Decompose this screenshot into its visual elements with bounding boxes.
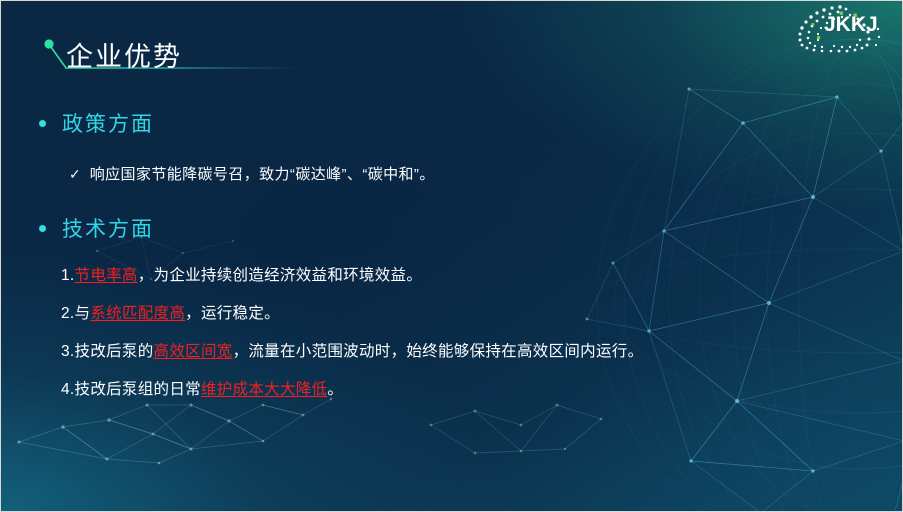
body-text: 与 bbox=[75, 305, 91, 322]
body-text: 响应国家节能降碳号召，致力“碳达峰”、“碳中和”。 bbox=[90, 166, 435, 183]
list-item-number: 4. bbox=[61, 381, 75, 398]
body-text: ，为企业持续创造经济效益和环境效益。 bbox=[138, 267, 422, 284]
checkmark-icon: ✓ bbox=[69, 166, 81, 183]
body-text: 。 bbox=[327, 381, 343, 398]
list-item: ✓响应国家节能降碳号召，致力“碳达峰”、“碳中和”。 bbox=[69, 163, 435, 184]
list-item-number: 1. bbox=[61, 267, 75, 284]
section-heading-policy: 政策方面 bbox=[39, 108, 154, 138]
body-text: 技改后泵的 bbox=[75, 343, 154, 360]
section-heading-technology: 技术方面 bbox=[39, 213, 154, 243]
highlight-text: 高效区间宽 bbox=[154, 343, 233, 360]
list-item-number: 2. bbox=[61, 305, 75, 322]
section-heading-label: 政策方面 bbox=[62, 108, 154, 138]
body-text: ，流量在小范围波动时，始终能够保持在高效区间内运行。 bbox=[233, 343, 644, 360]
list-item-number: 3. bbox=[61, 343, 75, 360]
list-item-text: 响应国家节能降碳号召，致力“碳达峰”、“碳中和”。 bbox=[90, 163, 435, 184]
section-heading-label: 技术方面 bbox=[62, 213, 154, 243]
list-item: 1.节电率高，为企业持续创造经济效益和环境效益。 bbox=[61, 263, 422, 285]
bullet-dot-icon bbox=[39, 120, 46, 127]
body-text: ，运行稳定。 bbox=[185, 305, 280, 322]
highlight-text: 维护成本大大降低 bbox=[201, 381, 327, 398]
highlight-text: 系统匹配度高 bbox=[90, 305, 185, 322]
list-item: 2.与系统匹配度高，运行稳定。 bbox=[61, 301, 280, 323]
list-item: 4.技改后泵组的日常维护成本大大降低。 bbox=[61, 377, 343, 399]
highlight-text: 节电率高 bbox=[75, 267, 138, 284]
slide-content: 政策方面✓响应国家节能降碳号召，致力“碳达峰”、“碳中和”。技术方面1.节电率高… bbox=[1, 1, 903, 512]
body-text: 技改后泵组的日常 bbox=[75, 381, 201, 398]
list-item: 3.技改后泵的高效区间宽，流量在小范围波动时，始终能够保持在高效区间内运行。 bbox=[61, 339, 643, 361]
bullet-dot-icon bbox=[39, 225, 46, 232]
slide-canvas: JKKJ 企业优势 政策方面✓响应国家节能降碳号召，致力“碳达峰”、“碳中和”。… bbox=[0, 0, 903, 512]
